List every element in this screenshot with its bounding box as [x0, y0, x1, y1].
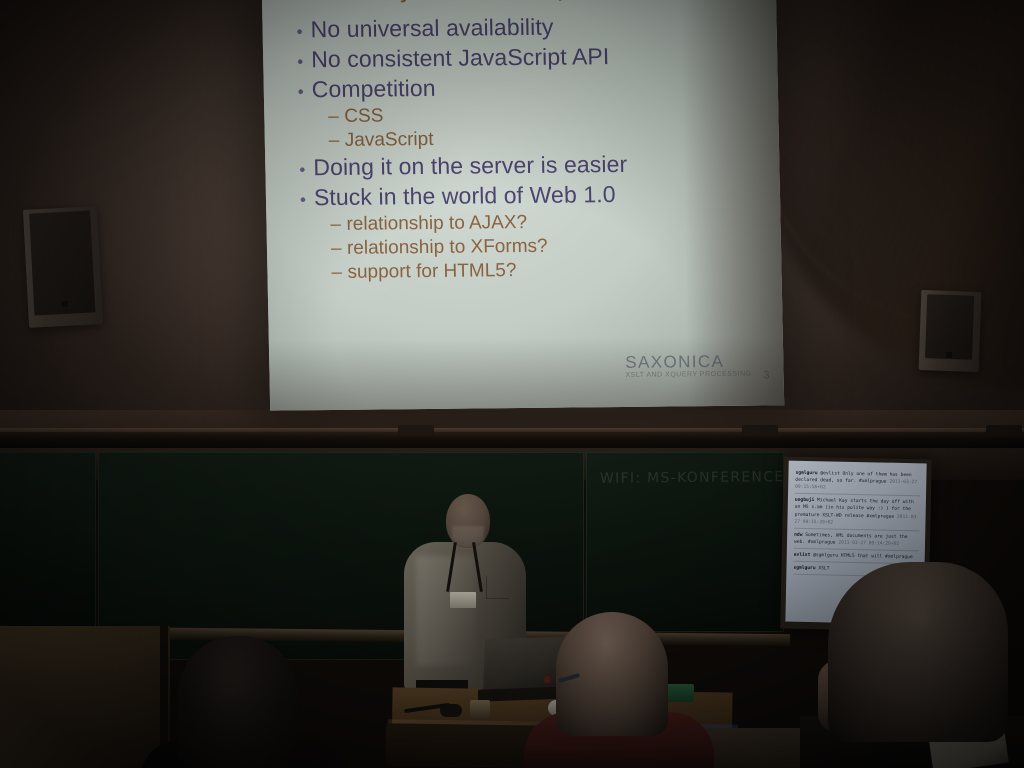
presenter-name-badge — [450, 592, 476, 608]
laptop-indicator-icon — [544, 676, 551, 683]
chalkboard-text: WIFI: MS-KONFERENCE — [600, 469, 785, 487]
tweet-text: XSLT — [818, 566, 829, 571]
tweet-username: evlist — [794, 553, 811, 558]
sub-bullet-marker-icon: – — [331, 238, 347, 260]
audience-member-left-head — [178, 636, 298, 768]
bullet-text: No consistent JavaScript API — [311, 43, 610, 73]
tweet-text: @sgmlguru HTML5 that will #xmlprague — [813, 553, 913, 560]
tweet-username: ndw — [794, 532, 802, 537]
sub-bullet-text: support for HTML5? — [347, 260, 516, 284]
sub-bullet-text: relationship to XForms? — [347, 236, 548, 260]
rail-clip — [398, 425, 434, 435]
sub-bullet-marker-icon: – — [329, 130, 345, 152]
tweet-username: sgmlguru — [793, 566, 815, 571]
screen-shadow-bottom — [269, 335, 784, 410]
tweet-item: uogbuji Michael Kay starts the day off w… — [794, 497, 920, 531]
rail-clip — [986, 425, 1022, 435]
bullet-marker-icon: • — [300, 190, 314, 210]
sub-bullet-marker-icon: – — [330, 214, 346, 236]
bullet-marker-icon: • — [299, 160, 313, 180]
presenter-shirt-highlight — [416, 556, 476, 666]
speaker-led — [946, 352, 952, 358]
tweet-username: sgmlguru — [795, 471, 817, 476]
presenter-beard — [452, 526, 484, 548]
bullet-marker-icon: • — [297, 52, 311, 72]
speaker-led — [62, 301, 68, 307]
wall-speaker-left — [23, 206, 103, 328]
bullet-marker-icon: • — [298, 82, 312, 102]
sub-bullet-marker-icon: – — [328, 106, 344, 128]
sub-bullet-text: CSS — [344, 105, 384, 127]
wall-speaker-right — [919, 290, 982, 372]
presenter-shirt-pocket — [486, 576, 509, 599]
tweet-timestamp: 2011-03-27 09:14:20+02 — [838, 541, 899, 547]
bullet-text: No universal availability — [310, 14, 553, 44]
slide-title: y the lack of uptake? — [400, 0, 634, 4]
audience-member-right-head — [828, 562, 1008, 742]
sub-bullet-text: relationship to AJAX? — [346, 212, 527, 236]
speaker-grille — [925, 294, 974, 360]
wall-rail — [0, 432, 1024, 448]
bullet-marker-icon: • — [296, 22, 310, 42]
desk-small-box — [470, 700, 490, 718]
speaker-grille — [29, 211, 95, 316]
sub-bullet-marker-icon: – — [331, 262, 347, 284]
bullet-text: Stuck in the world of Web 1.0 — [314, 181, 616, 211]
tweet-username: uogbuji — [795, 498, 814, 503]
desk-mouse[interactable] — [440, 704, 462, 717]
tweet-item: sgmlguru @evlist Only one of them has be… — [795, 470, 920, 497]
lecture-hall-scene: y the lack of uptake? • No universal ava… — [0, 0, 1024, 768]
foreground-panel-left — [0, 626, 170, 768]
bullet-text: Competition — [312, 75, 436, 103]
chalkboard-panel-left — [0, 452, 96, 644]
projection-screen: y the lack of uptake? • No universal ava… — [262, 0, 784, 411]
bullet-text: Doing it on the server is easier — [313, 151, 627, 181]
rail-clip — [742, 425, 778, 435]
tweet-item: ndw Sometimes, XML documents are just th… — [794, 531, 919, 551]
sub-bullet-text: JavaScript — [345, 129, 434, 152]
